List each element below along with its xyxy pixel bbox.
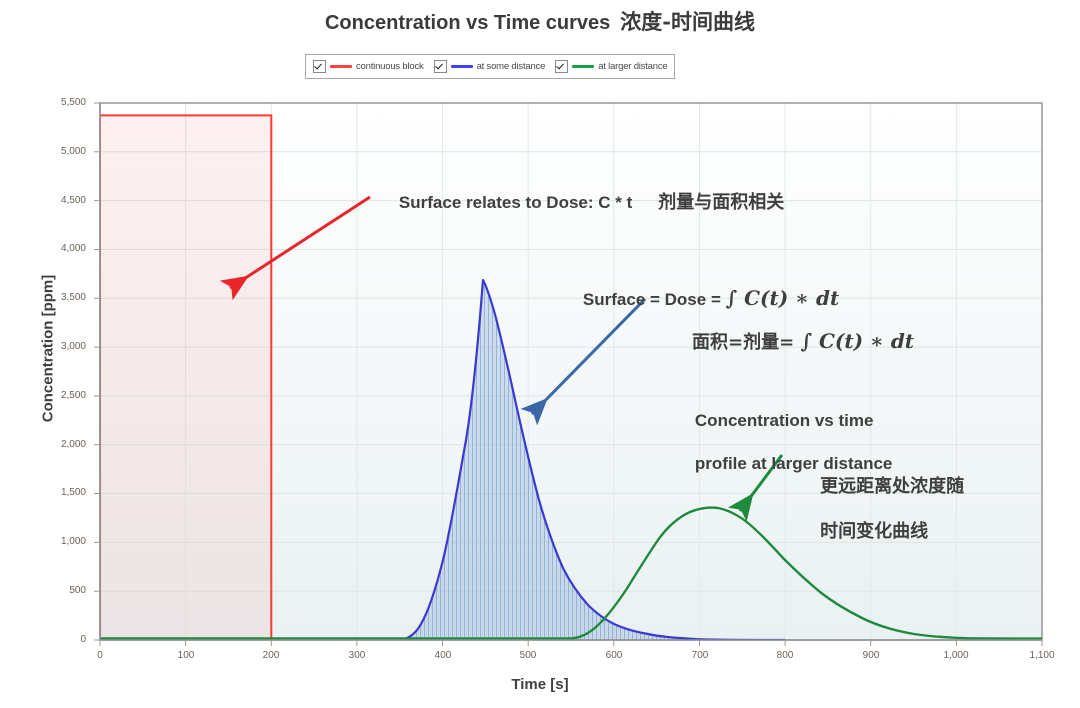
x-tick-label: 100 [163, 650, 209, 661]
annotation-profile-zh: 更远距离处浓度随 时间变化曲线 [795, 453, 964, 566]
chart-container: Concentration vs Time curves浓度-时间曲线 cont… [0, 0, 1080, 708]
y-tick-label: 500 [42, 585, 86, 596]
y-tick-label: 1,000 [42, 536, 86, 547]
x-tick-label: 0 [77, 650, 123, 661]
annotation-profile-line1: Concentration vs time [695, 411, 874, 430]
x-tick-label: 1,100 [1019, 650, 1065, 661]
plot-area [0, 0, 1080, 708]
x-tick-label: 800 [762, 650, 808, 661]
x-tick-label: 700 [677, 650, 723, 661]
x-axis-title: Time [s] [0, 676, 1080, 693]
x-tick-label: 900 [848, 650, 894, 661]
annotation-surface-zh: 面积=剂量= ∫ C(t) ∗ dt [672, 306, 914, 377]
x-tick-label: 600 [591, 650, 637, 661]
y-tick-label: 1,500 [42, 487, 86, 498]
x-tick-label: 500 [505, 650, 551, 661]
y-tick-label: 0 [42, 634, 86, 645]
annotation-dose-zh: 剂量与面积相关 [658, 192, 784, 213]
annotation-dose-en: Surface relates to Dose: C * t [399, 193, 632, 212]
y-axis-title: Concentration [ppm] [40, 229, 57, 469]
annotation-surface-zh-math: ∫ C(t) ∗ dt [800, 329, 914, 353]
x-axis-ticks [100, 640, 1042, 646]
x-tick-label: 400 [420, 650, 466, 661]
y-tick-label: 4,500 [42, 195, 86, 206]
series-continuous-block-fill [100, 115, 271, 640]
x-tick-label: 1,000 [933, 650, 979, 661]
annotation-profile-zh-line1: 更远距离处浓度随 [820, 476, 964, 497]
y-axis-ticks [94, 103, 100, 640]
y-tick-label: 5,500 [42, 97, 86, 108]
annotation-dose: Surface relates to Dose: C * t剂量与面积相关 [380, 171, 784, 236]
x-tick-label: 200 [248, 650, 294, 661]
annotation-profile-zh-line2: 时间变化曲线 [820, 521, 928, 542]
annotation-surface-zh-text: 面积=剂量= [692, 332, 800, 353]
y-tick-label: 5,000 [42, 146, 86, 157]
x-tick-label: 300 [334, 650, 380, 661]
